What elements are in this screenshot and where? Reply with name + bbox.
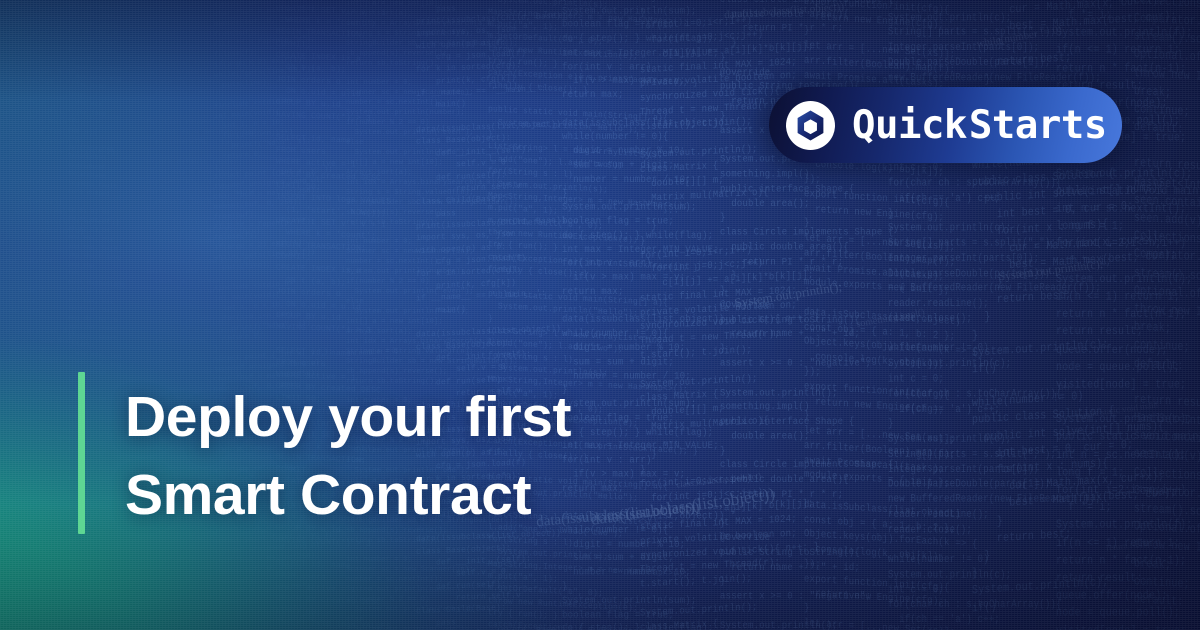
- page-title-line-1: Deploy your first: [125, 378, 571, 456]
- headline-block: Deploy your first Smart Contract: [78, 372, 571, 534]
- page-title: Deploy your first Smart Contract: [125, 372, 571, 534]
- chainlink-hexagon-icon: [786, 101, 835, 150]
- accent-bar: [78, 372, 85, 534]
- quickstarts-logo-text: QuickStarts: [852, 106, 1107, 145]
- quickstarts-logo-pill[interactable]: QuickStarts: [769, 87, 1122, 163]
- logo-text-quick: Quick: [852, 103, 967, 148]
- quickstarts-banner: class Node { int data; Node next; } void…: [0, 0, 1200, 630]
- logo-text-starts: Starts: [967, 103, 1107, 148]
- page-title-line-2: Smart Contract: [125, 456, 571, 534]
